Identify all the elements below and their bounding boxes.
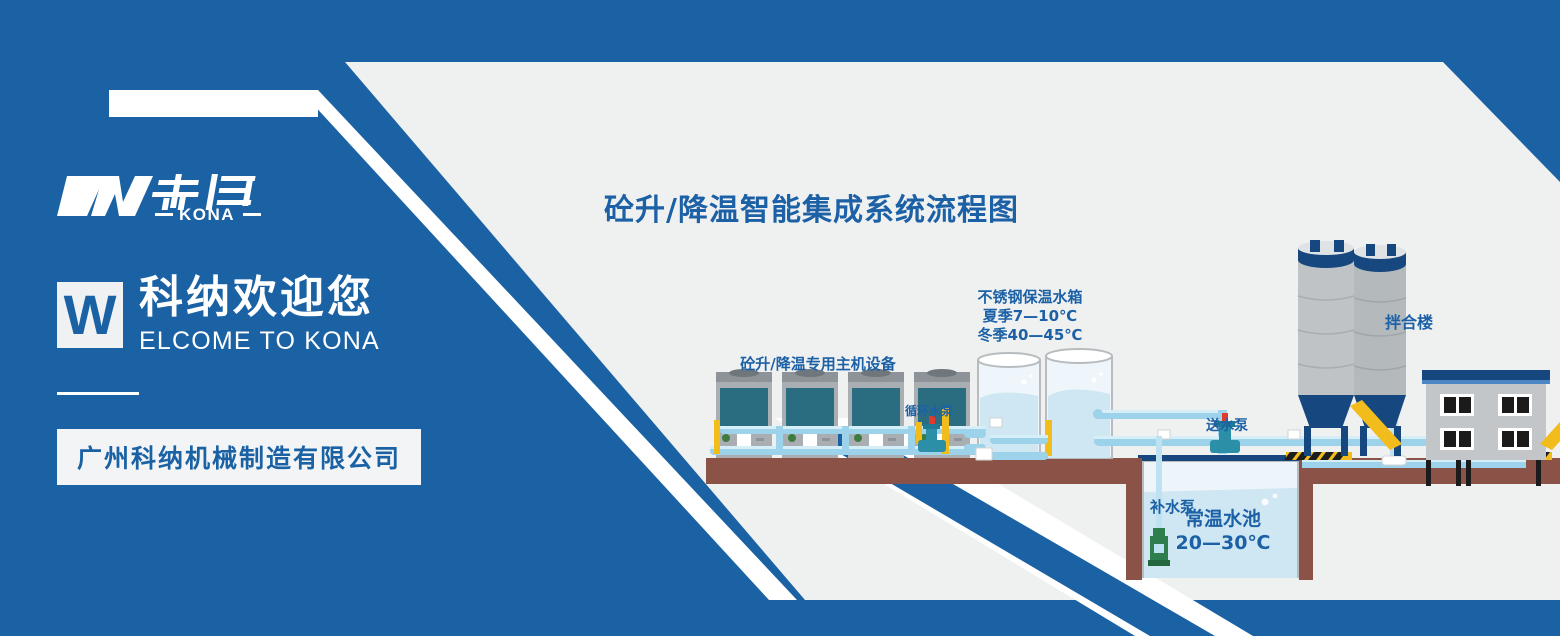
company-name-badge: 广州科纳机械制造有限公司 bbox=[57, 429, 421, 485]
corner-triangle bbox=[0, 560, 105, 636]
welcome-en: ELCOME TO KONA bbox=[139, 329, 380, 354]
label-mixing-tower: 拌合楼 bbox=[1374, 313, 1444, 333]
welcome-row: W 科纳欢迎您 ELCOME TO KONA bbox=[57, 276, 477, 354]
pool-rim bbox=[1138, 455, 1303, 461]
chiller-unit-1 bbox=[716, 369, 772, 458]
label-circulation-pump: 循环水泵 bbox=[898, 404, 960, 419]
chiller-unit-3 bbox=[848, 369, 904, 458]
silo-cluster-left bbox=[1298, 240, 1406, 456]
logo-rule-right bbox=[243, 213, 261, 216]
piping-group bbox=[710, 408, 1526, 566]
welcome-text-group: 科纳欢迎您 ELCOME TO KONA bbox=[139, 276, 380, 354]
kona-logo: KONA bbox=[57, 168, 477, 224]
brand-block: KONA W 科纳欢迎您 ELCOME TO KONA 广州科纳机械制造有限公司 bbox=[57, 168, 477, 485]
label-host-equipment: 砼升/降温专用主机设备 bbox=[718, 355, 918, 374]
kn-monogram-icon bbox=[57, 176, 153, 216]
label-supply-pump: 送水泵 bbox=[1192, 418, 1262, 436]
ground-group bbox=[706, 458, 1560, 580]
label-pool: 常温水池 20—30℃ bbox=[1168, 508, 1278, 556]
banner-stage: KONA W 科纳欢迎您 ELCOME TO KONA 广州科纳机械制造有限公司… bbox=[0, 0, 1560, 636]
logo-svg: KONA bbox=[57, 168, 267, 224]
welcome-cn: 科纳欢迎您 bbox=[139, 276, 380, 320]
label-makeup-pump: 补水泵 bbox=[1150, 500, 1168, 516]
divider-rule bbox=[57, 392, 139, 395]
w-letter-badge: W bbox=[57, 282, 123, 348]
white-stripe-upper-cap bbox=[109, 90, 318, 117]
process-diagram bbox=[690, 230, 1560, 580]
label-water-tank: 不锈钢保温水箱 夏季7—10℃ 冬季40—45℃ bbox=[955, 288, 1105, 344]
logo-rule-left bbox=[155, 213, 173, 216]
logo-en-text: KONA bbox=[179, 205, 235, 224]
chiller-unit-2 bbox=[782, 369, 838, 458]
diagram-title: 砼升/降温智能集成系统流程图 bbox=[604, 185, 1019, 229]
